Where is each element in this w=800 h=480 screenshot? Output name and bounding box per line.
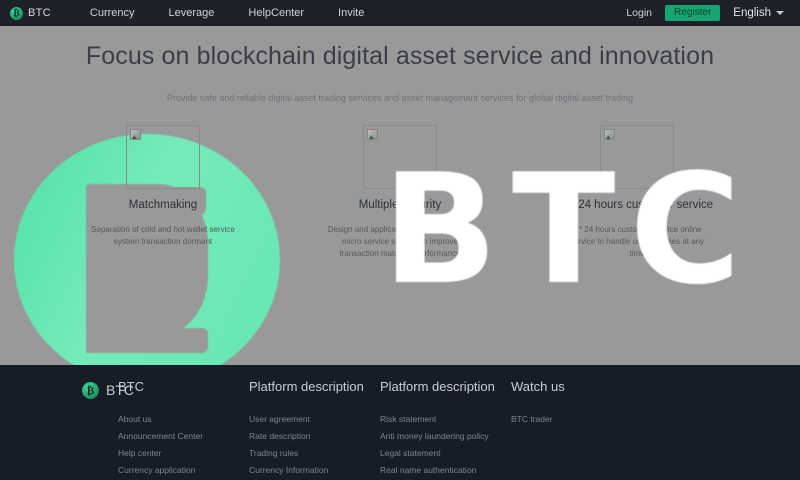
footer-link-about-us[interactable]: About us xyxy=(118,411,249,428)
page-root: ₿ BTC Currency Leverage HelpCenter Invit… xyxy=(0,0,800,480)
feature-card-list: Matchmaking Separation of cold and hot w… xyxy=(0,103,800,260)
footer-column-platform-description-1: Platform description User agreement Rate… xyxy=(249,379,380,480)
site-footer: ₿ BTC BTC About us Announcement Center H… xyxy=(0,365,800,480)
login-link[interactable]: Login xyxy=(626,7,652,19)
footer-column-btc: BTC About us Announcement Center Help ce… xyxy=(118,379,249,480)
feature-card-description: 7 * 24 hours customer service online ser… xyxy=(540,224,735,260)
nav-item-helpcenter[interactable]: HelpCenter xyxy=(231,7,321,19)
feature-image-placeholder xyxy=(126,125,200,189)
feature-card: Matchmaking Separation of cold and hot w… xyxy=(66,125,261,260)
nav-item-currency[interactable]: Currency xyxy=(73,7,152,19)
footer-link-risk-statement[interactable]: Risk statement xyxy=(380,411,511,428)
feature-card: 7 * 24 hours customer service 7 * 24 hou… xyxy=(540,125,735,260)
footer-column-platform-description-2: Platform description Risk statement Anti… xyxy=(380,379,511,480)
footer-column-title: BTC xyxy=(118,379,249,394)
feature-card-description: Separation of cold and hot wallet servic… xyxy=(66,224,261,248)
feature-image-placeholder xyxy=(363,125,437,189)
footer-brand[interactable]: ₿ BTC xyxy=(0,379,118,480)
footer-link-announcement-center[interactable]: Announcement Center xyxy=(118,428,249,445)
feature-card: Multiple security Design and application… xyxy=(303,125,498,260)
chevron-down-icon xyxy=(776,11,784,15)
top-navigation-bar: ₿ BTC Currency Leverage HelpCenter Invit… xyxy=(0,0,800,26)
nav-left-group: ₿ BTC Currency Leverage HelpCenter Invit… xyxy=(10,7,381,20)
footer-link-currency-information[interactable]: Currency Information xyxy=(249,462,380,479)
hero-section: Focus on blockchain digital asset servic… xyxy=(0,26,800,365)
footer-column-title: Platform description xyxy=(249,379,380,394)
footer-link-help-center[interactable]: Help center xyxy=(118,445,249,462)
footer-link-rate-description[interactable]: Rate description xyxy=(249,428,380,445)
nav-item-invite[interactable]: Invite xyxy=(321,7,381,19)
btc-logo-icon: ₿ xyxy=(82,382,99,399)
nav-item-leverage[interactable]: Leverage xyxy=(152,7,232,19)
feature-card-title: Multiple security xyxy=(303,198,498,213)
logo-bar-bottom xyxy=(86,328,208,353)
footer-link-anti-money-laundering-policy[interactable]: Anti money laundering policy xyxy=(380,428,511,445)
footer-link-legal-statement[interactable]: Legal statement xyxy=(380,445,511,462)
footer-link-real-name-authentication[interactable]: Real name authentication xyxy=(380,462,511,479)
footer-link-currency-application[interactable]: Currency application xyxy=(118,462,249,479)
footer-column-title: Watch us xyxy=(511,379,621,394)
footer-link-trading-rules[interactable]: Trading rules xyxy=(249,445,380,462)
btc-logo-icon: ₿ xyxy=(10,7,23,20)
feature-card-title: Matchmaking xyxy=(66,198,261,213)
feature-card-title: 7 * 24 hours customer service xyxy=(540,198,735,213)
footer-column-title: Platform description xyxy=(380,379,511,394)
language-selector[interactable]: English xyxy=(733,7,784,19)
language-label: English xyxy=(733,7,771,19)
nav-links: Currency Leverage HelpCenter Invite xyxy=(73,7,381,19)
page-title: Focus on blockchain digital asset servic… xyxy=(0,26,800,71)
footer-link-user-agreement[interactable]: User agreement xyxy=(249,411,380,428)
register-button[interactable]: Register xyxy=(665,5,720,21)
brand-logo[interactable]: ₿ BTC xyxy=(10,7,51,20)
broken-image-icon xyxy=(604,129,615,140)
brand-label: BTC xyxy=(28,7,51,19)
footer-link-btc-trader[interactable]: BTC trader xyxy=(511,411,621,428)
broken-image-icon xyxy=(367,129,378,140)
nav-right-group: Login Register English xyxy=(626,5,790,21)
feature-image-placeholder xyxy=(600,125,674,189)
footer-column-watch-us: Watch us BTC trader xyxy=(511,379,621,480)
broken-image-icon xyxy=(130,129,141,140)
page-subtitle: Provide safe and reliable digital asset … xyxy=(0,71,800,103)
feature-card-description: Design and application of distributed an… xyxy=(303,224,498,260)
